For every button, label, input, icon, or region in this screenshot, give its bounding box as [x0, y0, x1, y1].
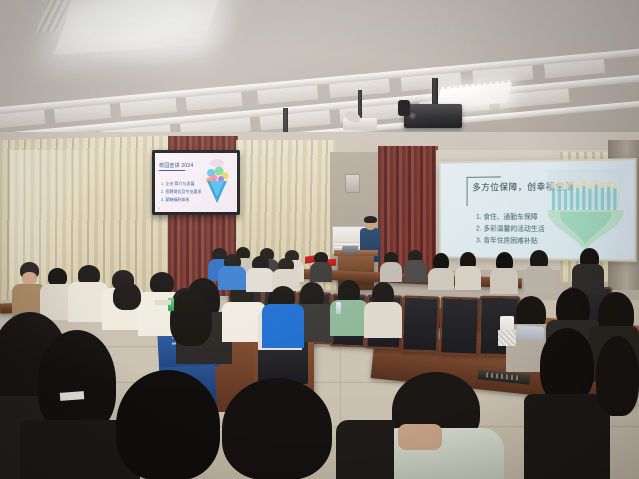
tissue-box-pattern: [498, 330, 516, 346]
slide-artwork-icon: [542, 164, 630, 253]
audience-body-b8: [428, 268, 454, 290]
chair-7: [439, 296, 480, 355]
wall-speaker: [345, 174, 360, 193]
lecture-hall-photo: 校园宣讲 2024 1. 企业 简介与发展 2. 招聘岗位及专业要求 3. 薪酬…: [0, 0, 639, 479]
projection-screen-slide: 多方位保障，创幸福生活 1. 食住、通勤车保障 2. 多彩温馨的活动生活 3. …: [441, 160, 635, 260]
audience-body-b6: [380, 262, 402, 282]
projector-right: [404, 104, 462, 128]
audience-body-m14: [364, 302, 402, 338]
audience-body-b9: [455, 266, 481, 290]
slide-rule-horizontal: [467, 176, 501, 177]
presenter-laptop: [342, 246, 359, 254]
audience-head-f2: [38, 330, 116, 434]
slide-rule-vertical: [467, 177, 468, 206]
audience-head-m10: [113, 282, 141, 310]
audience-body-b10: [490, 268, 518, 294]
water-bottle: [336, 302, 341, 314]
audience-body-m15: [218, 266, 246, 290]
wall-tv-logo: ▪▪: [158, 206, 160, 210]
chair-6: [401, 295, 440, 352]
wall-tv[interactable]: 校园宣讲 2024 1. 企业 简介与发展 2. 招聘岗位及专业要求 3. 薪酬…: [152, 150, 240, 215]
projector-right-cable-box: [398, 100, 410, 116]
audience-body-m18-blue-hoodie: [262, 304, 304, 348]
wall-tv-screen: 校园宣讲 2024 1. 企业 简介与发展 2. 招聘岗位及专业要求 3. 薪酬…: [155, 153, 237, 212]
audience-head-f3: [116, 370, 220, 479]
audience-body-b5: [310, 262, 332, 282]
slide-bullet-1: 1. 食住、通勤车保障: [476, 212, 538, 222]
wall-tv-rule: [159, 170, 185, 171]
audience-head-m5: [150, 272, 174, 294]
foreground-attendee-neck: [398, 424, 442, 450]
foreground-attendee-bag: [336, 420, 394, 479]
wall-tv-bullet-1: 1. 企业 简介与发展: [161, 181, 195, 187]
slide-bullet-3: 3. 青年住房困难补贴: [476, 235, 538, 246]
audience-head-r5: [596, 336, 639, 416]
audience-head-r4: [540, 328, 594, 402]
notebook: [60, 391, 84, 401]
paper-on-table: [155, 300, 171, 306]
slide-bullet-2: 2. 多彩温馨的活动生活: [476, 224, 545, 234]
audience-body-b11: [524, 266, 554, 294]
audience-body-r4: [524, 394, 610, 479]
audience-head-f4: [222, 378, 332, 479]
projection-screen[interactable]: 多方位保障，创幸福生活 1. 食住、通勤车保障 2. 多彩温馨的活动生活 3. …: [439, 158, 637, 262]
presenter-hair: [364, 216, 377, 223]
wall-tv-bullet-2: 2. 招聘岗位及专业要求: [161, 189, 201, 195]
bag-on-table: [516, 325, 545, 341]
audience-head-m9: [170, 290, 212, 346]
audience-body-m16: [246, 268, 274, 292]
wall-tv-artwork-icon: [199, 157, 235, 207]
wall-tv-bullet-3: 3. 薪酬福利体系: [161, 197, 189, 203]
audience-body-b7: [404, 260, 427, 282]
wall-tv-title: 校园宣讲 2024: [159, 162, 193, 169]
